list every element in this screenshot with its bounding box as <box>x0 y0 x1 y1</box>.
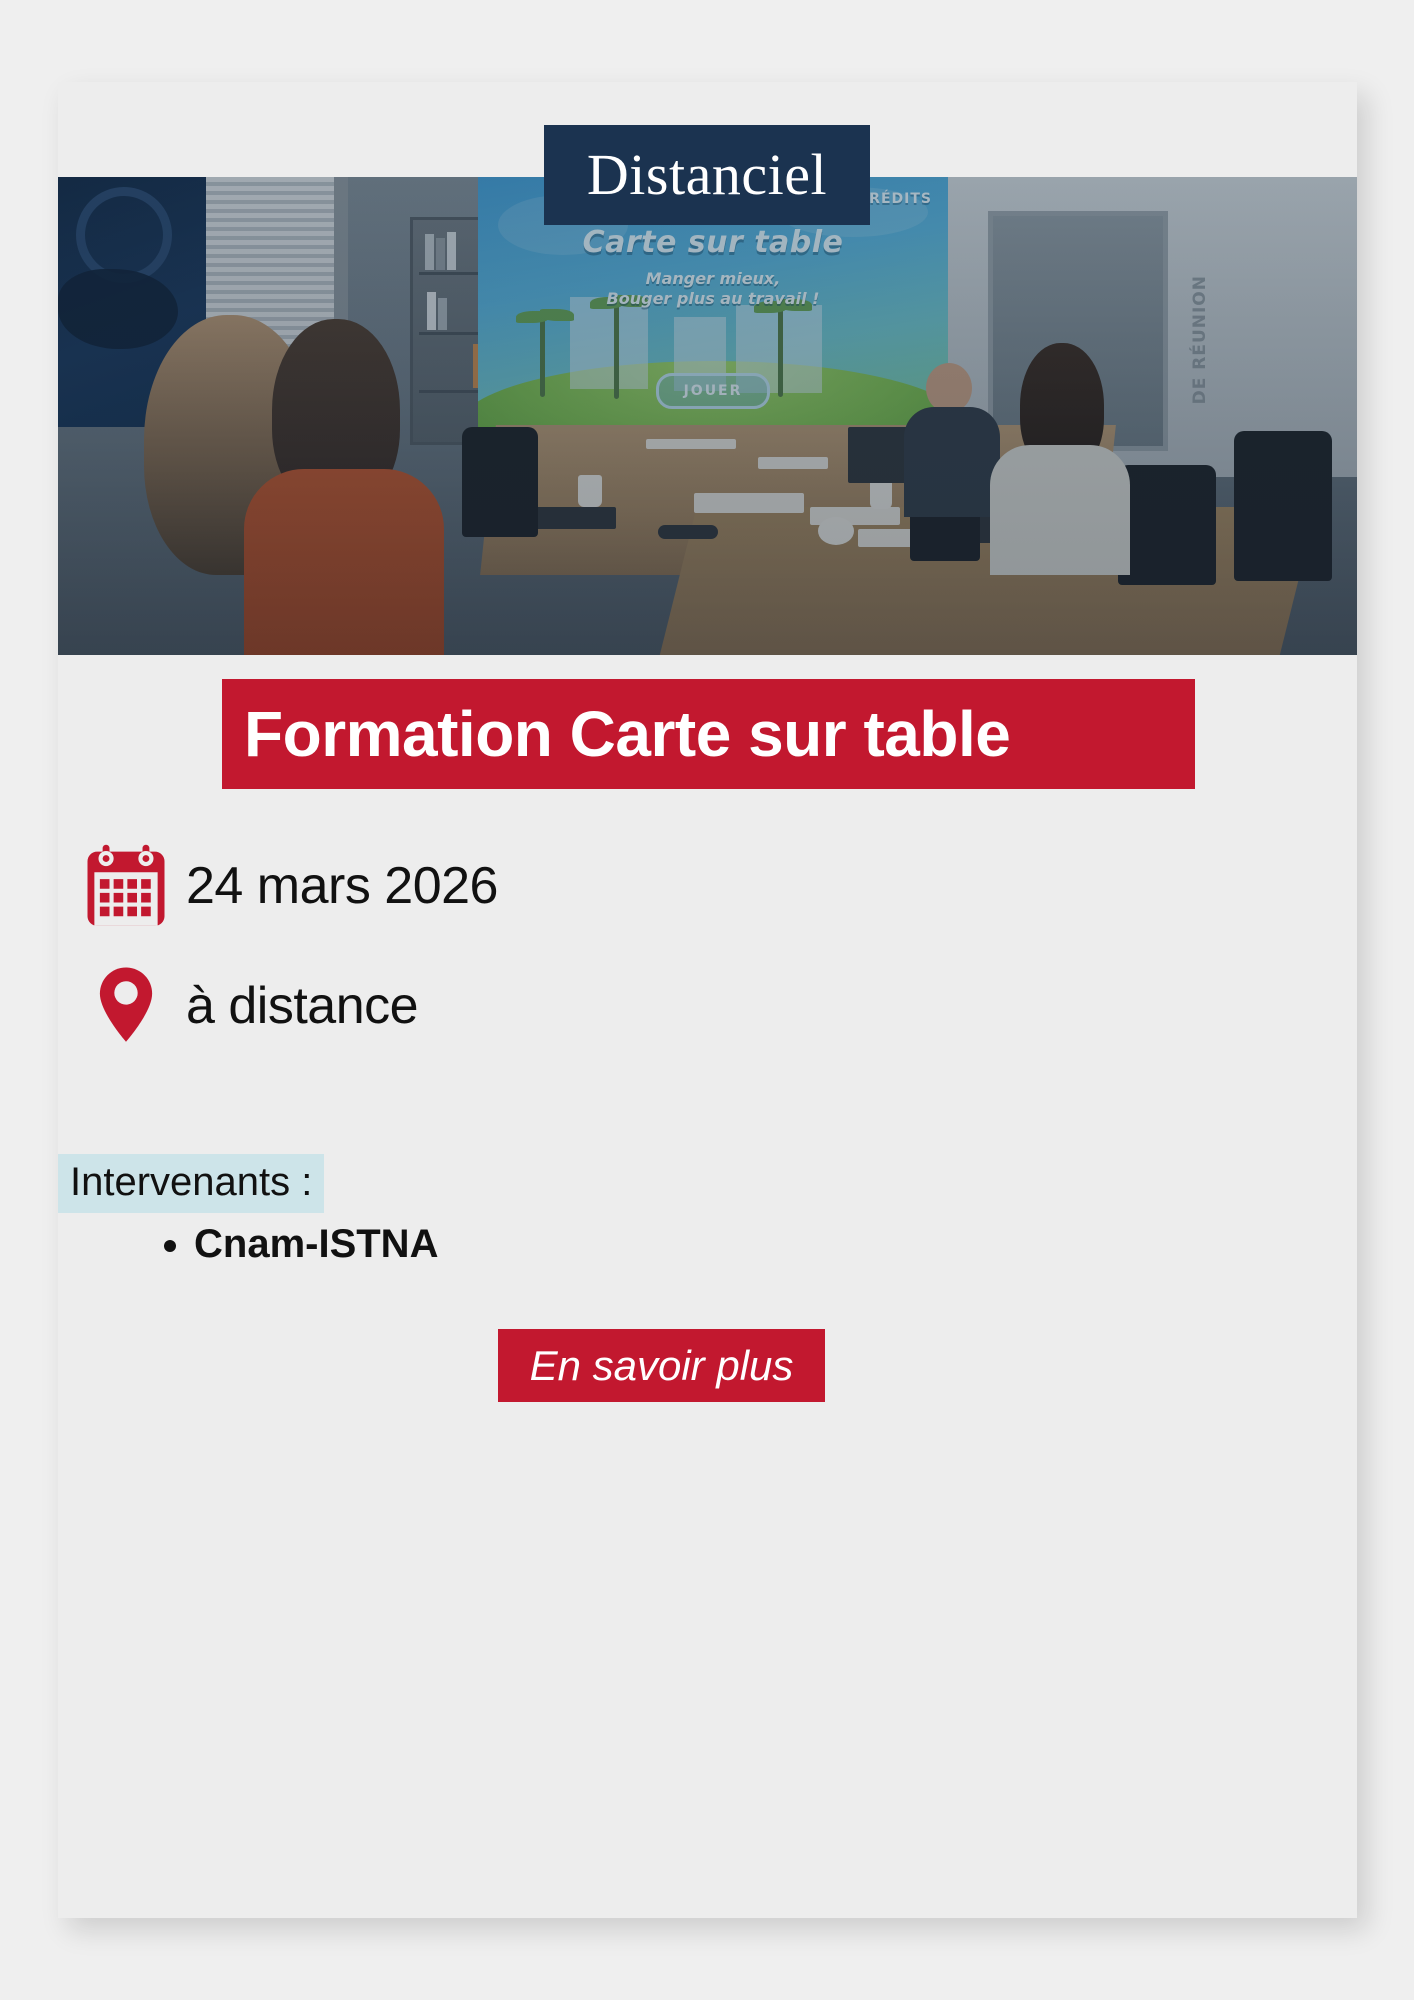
photo-scene: DE RÉUNION <box>58 177 1357 655</box>
learn-more-button[interactable]: En savoir plus <box>498 1329 825 1402</box>
event-date-row: 24 mars 2026 <box>66 842 498 930</box>
screen-game-title: Carte sur table <box>478 225 948 260</box>
status-badge: Distanciel <box>544 125 870 225</box>
page-title-text: Formation Carte sur table <box>222 697 1010 771</box>
learn-more-button-label: En savoir plus <box>530 1342 794 1390</box>
screen-tagline-line-2: Bouger plus au travail ! <box>478 289 948 309</box>
screen-tagline-line-1: Manger mieux, <box>478 269 948 289</box>
map-pin-icon <box>66 962 186 1050</box>
speakers-list: Cnam-ISTNA <box>148 1218 438 1270</box>
event-location-value: à distance <box>186 976 418 1036</box>
speakers-label: Intervenants : <box>58 1154 324 1213</box>
event-location-row: à distance <box>66 962 418 1050</box>
list-item: Cnam-ISTNA <box>194 1218 438 1270</box>
screen-play-button: JOUER <box>656 373 770 409</box>
calendar-icon <box>66 842 186 930</box>
page-title: Formation Carte sur table <box>222 679 1195 789</box>
screen-game-tagline: Manger mieux, Bouger plus au travail ! <box>478 269 948 309</box>
event-card: Distanciel DE RÉUNION <box>58 82 1357 1918</box>
status-badge-label: Distanciel <box>587 146 827 204</box>
event-date-value: 24 mars 2026 <box>186 856 498 916</box>
room-sign-label: DE RÉUNION <box>1190 275 1210 404</box>
event-photo: DE RÉUNION <box>58 177 1357 655</box>
